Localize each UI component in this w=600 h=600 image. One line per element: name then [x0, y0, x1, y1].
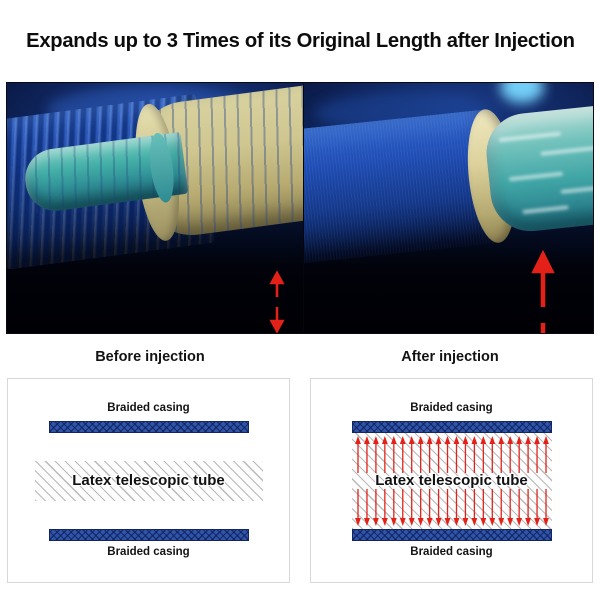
diameter-arrow-large-icon	[528, 255, 558, 333]
after-braided-casing-top-bar	[352, 421, 552, 433]
caption-before-injection: Before injection	[0, 336, 300, 378]
after-latex-tube-label: Latex telescopic tube	[371, 472, 532, 489]
before-braided-casing-bottom-bar	[49, 529, 249, 541]
title-bar: Expands up to 3 Times of its Original Le…	[0, 0, 600, 82]
diagram-card-after: Braided casing Latex telescopic tube Bra…	[310, 378, 593, 583]
after-latex-tube-band: Latex telescopic tube	[352, 433, 552, 529]
before-latex-tube-band: Latex telescopic tube	[35, 461, 263, 501]
before-braided-casing-top-bar	[49, 421, 249, 433]
diagram-card-before: Braided casing Latex telescopic tube Bra…	[7, 378, 290, 583]
contracted-hose-photo	[7, 83, 303, 333]
before-bottom-casing-label: Braided casing	[107, 547, 189, 559]
hose-water-bore-right	[482, 103, 593, 235]
section-captions: Before injection After injection	[0, 336, 600, 378]
before-latex-tube-label: Latex telescopic tube	[68, 472, 229, 489]
before-top-casing-label: Braided casing	[107, 403, 189, 415]
after-tube-stack: Latex telescopic tube	[352, 421, 552, 541]
diameter-arrow-small-icon	[265, 273, 289, 331]
after-braided-casing-bottom-bar	[352, 529, 552, 541]
caption-after-injection: After injection	[300, 336, 600, 378]
page-title: Expands up to 3 Times of its Original Le…	[26, 29, 574, 53]
diagram-cards: Braided casing Latex telescopic tube Bra…	[0, 378, 600, 586]
photo-strip	[6, 82, 594, 334]
expanded-hose-photo	[303, 83, 594, 333]
after-bottom-casing-label: Braided casing	[410, 547, 492, 559]
after-top-casing-label: Braided casing	[410, 403, 492, 415]
